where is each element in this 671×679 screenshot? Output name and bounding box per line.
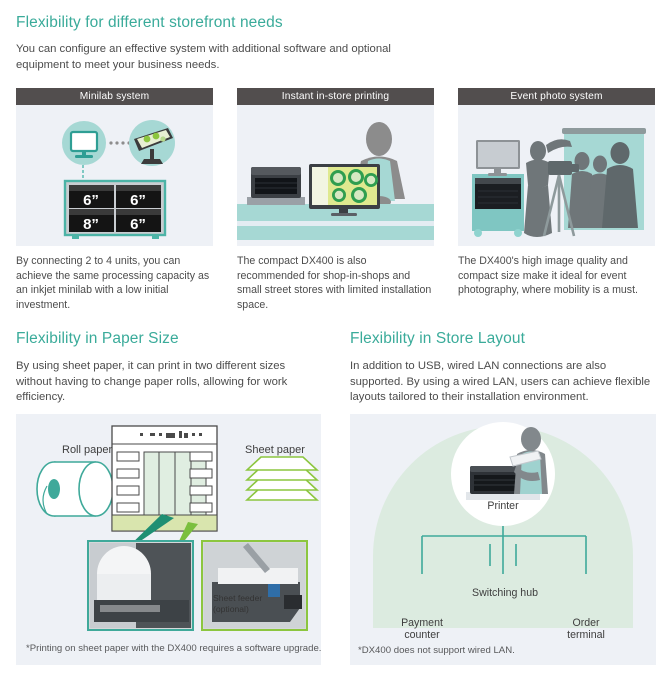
event-scene-svg [458,105,655,246]
node-label-switching-hub: Switching hub [455,587,555,599]
footnote-store-layout: *DX400 does not support wired LAN. [358,645,515,656]
section-body-store-layout: In addition to USB, wired LAN connection… [350,359,656,406]
card-header-label: Instant in-store printing [237,88,434,105]
page-title: Flexibility for different storefront nee… [16,14,283,31]
card-illustration-minilab: 6” 6” 8” 6” [16,105,213,246]
section1-title-wrap: Flexibility for different storefront nee… [16,14,283,32]
instore-scene-svg [237,105,434,246]
node-label-payment-counter-line2: counter [372,629,472,641]
node-label-payment-counter-line1: Payment [372,617,472,629]
sheet-paper-icon [247,457,317,500]
roll-paper-icon [37,462,113,516]
page-root: Flexibility for different storefront nee… [0,0,671,679]
footnote-paper-size: *Printing on sheet paper with the DX400 … [26,643,321,654]
card-caption-event: The DX400's high image quality and compa… [458,254,655,298]
card-header-label: Event photo system [458,88,655,105]
node-label-printer: Printer [350,500,656,512]
section-paper-size: Flexibility in Paper Size By using sheet… [16,330,321,406]
sheet-feeder-label-1: Sheet feeder [213,593,262,603]
printer-size-label-1: 6” [83,192,99,209]
section-title-store-layout: Flexibility in Store Layout [350,330,656,348]
section1-intro: You can configure an effective system wi… [16,42,416,73]
section-body-paper-size: By using sheet paper, it can print in tw… [16,359,321,406]
card-event-photo-system: Event photo system [458,88,655,246]
card-header-label: Minilab system [16,88,213,105]
minilab-diagram-svg: 6” 6” 8” 6” [16,105,213,246]
card-caption-minilab: By connecting 2 to 4 units, you can achi… [16,254,213,312]
panel-store-layout: *DX400 does not support wired LAN. Print… [350,414,656,665]
node-label-order-terminal-line1: Order [536,617,636,629]
photo-sheet-feeder [202,541,307,630]
card-caption-instore: The compact DX400 is also recommended fo… [237,254,434,312]
card-illustration-instore [237,105,434,246]
printer-size-label-2: 6” [130,192,146,209]
card-instant-instore-printing: Instant in-store printing [237,88,434,246]
card-illustration-event [458,105,655,246]
photo-roll-loading [88,541,193,630]
section-title-paper-size: Flexibility in Paper Size [16,330,321,348]
sheet-feeder-label-2: (optional) [213,604,249,614]
card-row: Minilab system [16,88,656,246]
label-roll-paper: Roll paper [62,444,112,456]
label-sheet-paper: Sheet paper [245,444,305,456]
printer-size-label-4: 6” [130,216,146,233]
card-minilab-system: Minilab system [16,88,213,246]
printer-size-label-3: 8” [83,216,99,233]
section-store-layout: Flexibility in Store Layout In addition … [350,330,656,406]
node-label-order-terminal-line2: terminal [536,629,636,641]
